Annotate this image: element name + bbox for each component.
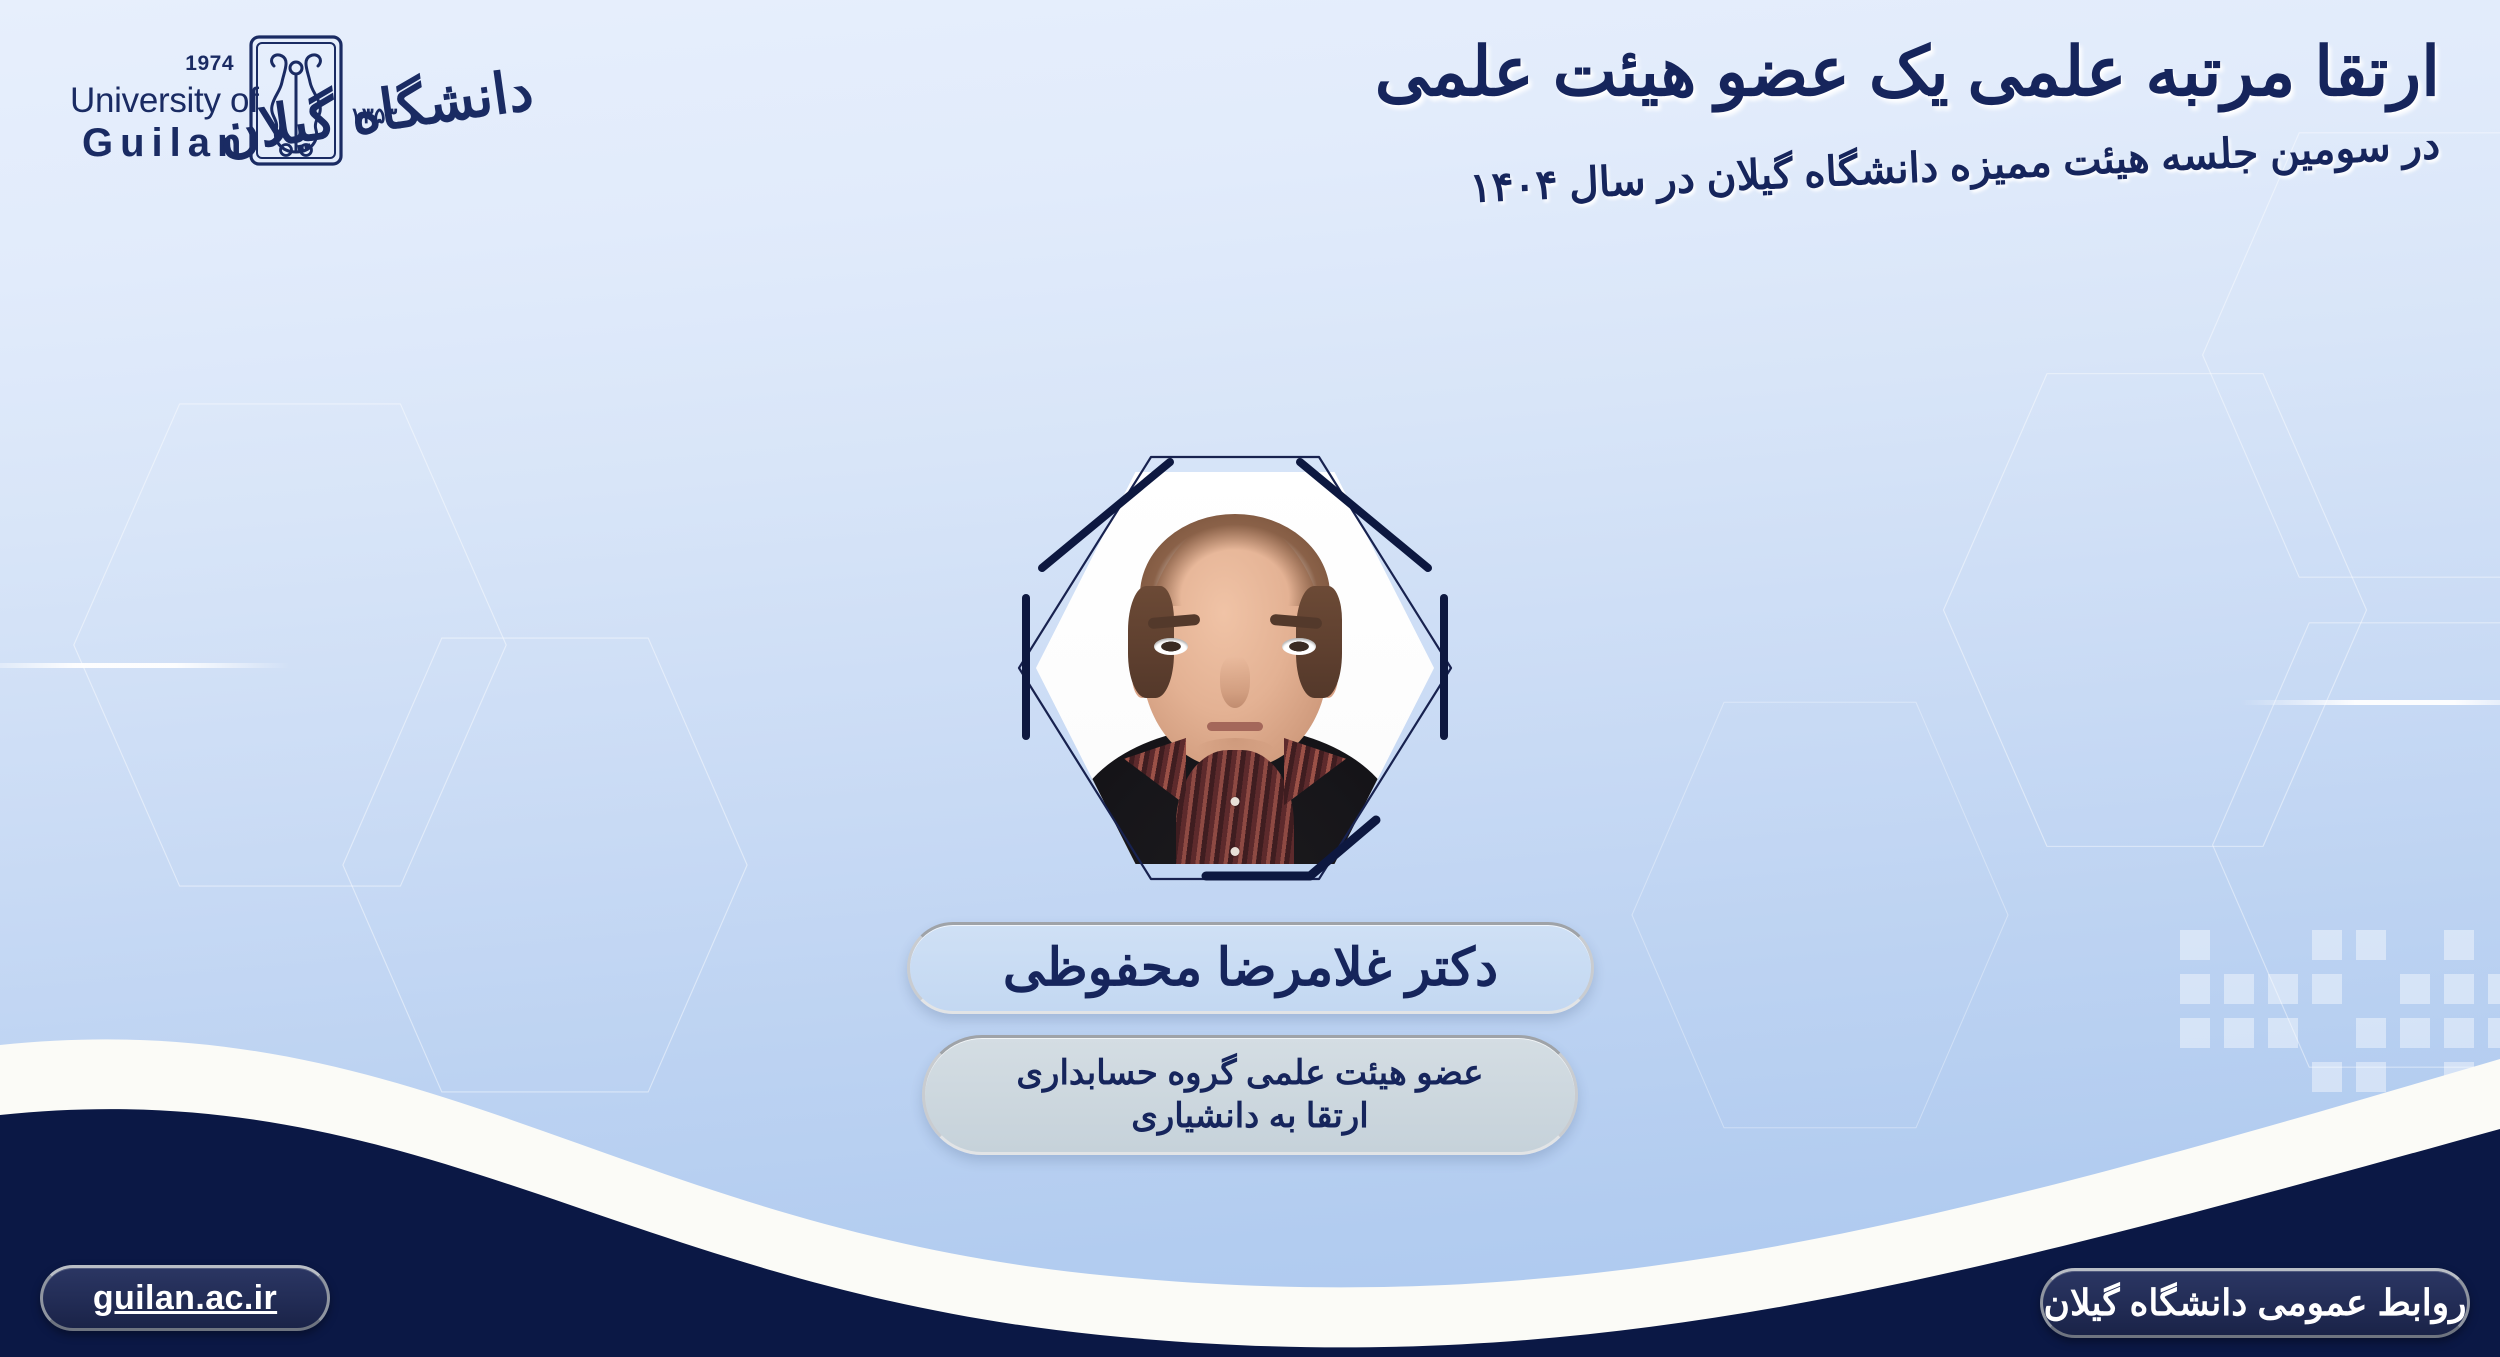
person-role-badge: عضو هیئت علمی گروه حسابداری ارتقا به دان… <box>922 1035 1578 1155</box>
public-relations-badge: روابط عمومی دانشگاه گیلان <box>2040 1268 2470 1338</box>
hexagon-portrait-frame-icon <box>1010 448 1460 888</box>
hexagon-outline-icon <box>330 625 760 1105</box>
decor-streak <box>0 663 290 668</box>
decor-square-grid-right <box>2180 930 2500 1136</box>
decor-square-grid-left <box>0 1055 230 1261</box>
public-relations-label: روابط عمومی دانشگاه گیلان <box>2044 1282 2467 1324</box>
university-logo: 1974 University of Guilan ۱۳۵۳ دانشگاه گ… <box>70 28 540 173</box>
person-name: دکتر غلامرضا محفوظی <box>1003 938 1498 998</box>
logo-name-persian: دانشگاه گیلان <box>383 57 537 143</box>
website-label: guilan.ac.ir <box>93 1279 277 1318</box>
website-link[interactable]: guilan.ac.ir <box>40 1265 330 1331</box>
person-role-line-2: ارتقا به دانشیاری <box>1131 1096 1369 1137</box>
hexagon-outline-icon <box>2190 120 2500 590</box>
logo-persian-text: ۱۳۵۳ دانشگاه گیلان <box>344 59 534 143</box>
person-role-line-1: عضو هیئت علمی گروه حسابداری <box>1016 1053 1483 1094</box>
person-name-badge: دکتر غلامرضا محفوظی <box>907 922 1594 1014</box>
portrait <box>1010 448 1460 888</box>
header-block: ارتقا مرتبه علمی یک عضو هیئت علمی در سوم… <box>1180 34 2440 169</box>
decor-streak <box>2240 700 2500 705</box>
page-title: ارتقا مرتبه علمی یک عضو هیئت علمی <box>1180 34 2440 110</box>
logo-line-university: University of <box>70 83 234 118</box>
promotion-poster: 1974 University of Guilan ۱۳۵۳ دانشگاه گ… <box>0 0 2500 1357</box>
logo-line-guilan: Guilan <box>70 123 234 163</box>
hexagon-outline-icon <box>1620 690 2020 1140</box>
logo-year-latin: 1974 <box>185 53 234 74</box>
